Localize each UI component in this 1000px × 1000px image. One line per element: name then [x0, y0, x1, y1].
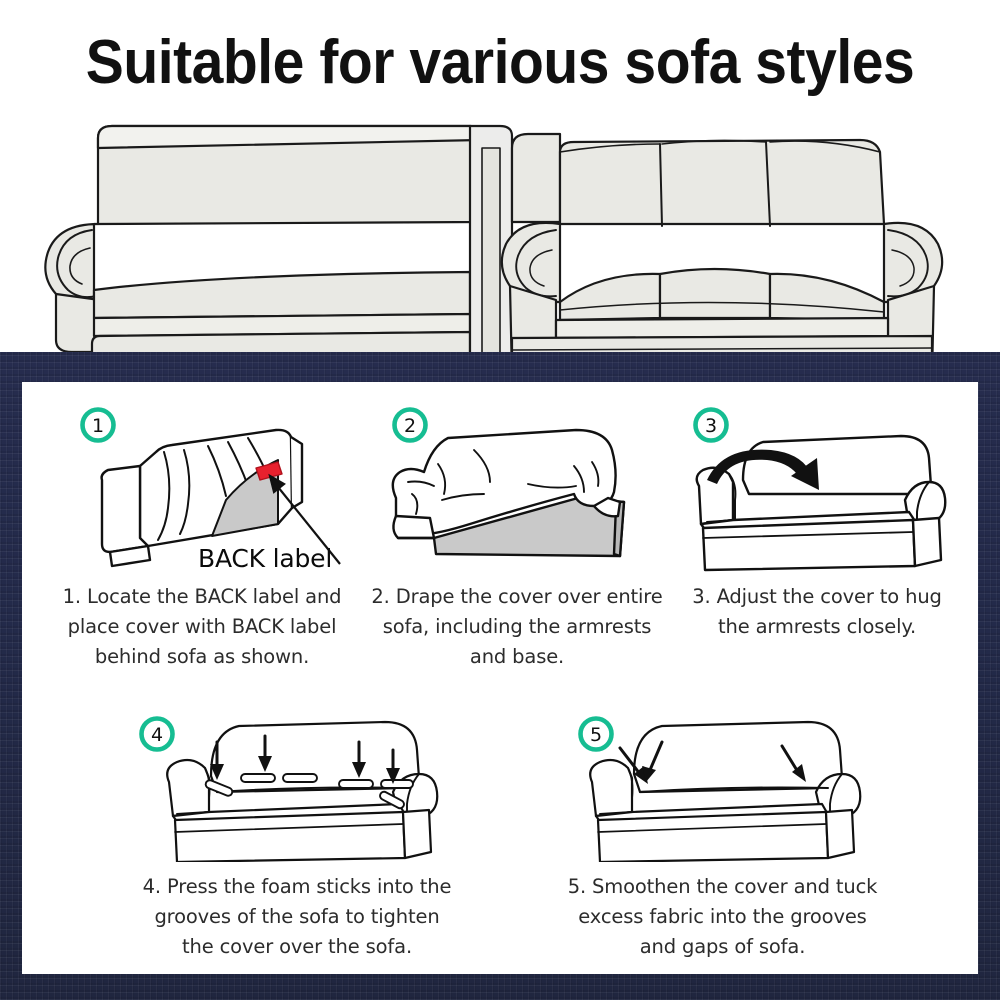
caption-line: place cover with BACK label — [42, 612, 362, 642]
back-label-annotation: BACK label — [198, 544, 332, 573]
instruction-step-2: 2 — [362, 392, 672, 682]
sofa-connector — [470, 126, 512, 352]
caption-line: and base. — [362, 642, 672, 672]
step-4-caption: 4. Press the foam sticks into the groove… — [117, 872, 477, 962]
instruction-step-5: 5 — [530, 702, 915, 972]
step-5-caption: 5. Smoothen the cover and tuck excess fa… — [530, 872, 915, 962]
caption-line: the cover over the sofa. — [117, 932, 477, 962]
caption-line: behind sofa as shown. — [42, 642, 362, 672]
hero-section: Suitable for various sofa styles — [0, 0, 1000, 355]
infographic-page: Suitable for various sofa styles — [0, 0, 1000, 1000]
caption-line: and gaps of sofa. — [530, 932, 915, 962]
instructions-panel: 1 — [22, 382, 978, 974]
instruction-step-4: 4 — [117, 702, 477, 972]
caption-line: sofa, including the armrests — [362, 612, 672, 642]
caption-line: 1. Locate the BACK label and — [42, 582, 362, 612]
caption-line: excess fabric into the grooves — [530, 902, 915, 932]
step-4-illustration — [143, 712, 453, 862]
step-5-illustration — [564, 712, 874, 862]
caption-line: grooves of the sofa to tighten — [117, 902, 477, 932]
step-3-caption: 3. Adjust the cover to hug the armrests … — [667, 582, 967, 642]
instruction-step-3: 3 — [667, 392, 967, 682]
caption-line: 5. Smoothen the cover and tuck — [530, 872, 915, 902]
step-1-caption: 1. Locate the BACK label and place cover… — [42, 582, 362, 672]
instruction-step-1: 1 — [42, 392, 362, 682]
caption-line: 4. Press the foam sticks into the — [117, 872, 477, 902]
caption-line: 3. Adjust the cover to hug — [667, 582, 967, 612]
step-2-illustration — [378, 406, 658, 574]
step-3-illustration — [677, 408, 962, 573]
page-title: Suitable for various sofa styles — [40, 26, 960, 100]
step-2-caption: 2. Drape the cover over entire sofa, inc… — [362, 582, 672, 672]
caption-line: the armrests closely. — [667, 612, 967, 642]
three-seat-rolled-arm-sofa — [502, 134, 942, 352]
chaise-sectional-sofa — [45, 126, 480, 352]
sofa-styles-illustration — [0, 104, 1000, 352]
caption-line: 2. Drape the cover over entire — [362, 582, 672, 612]
